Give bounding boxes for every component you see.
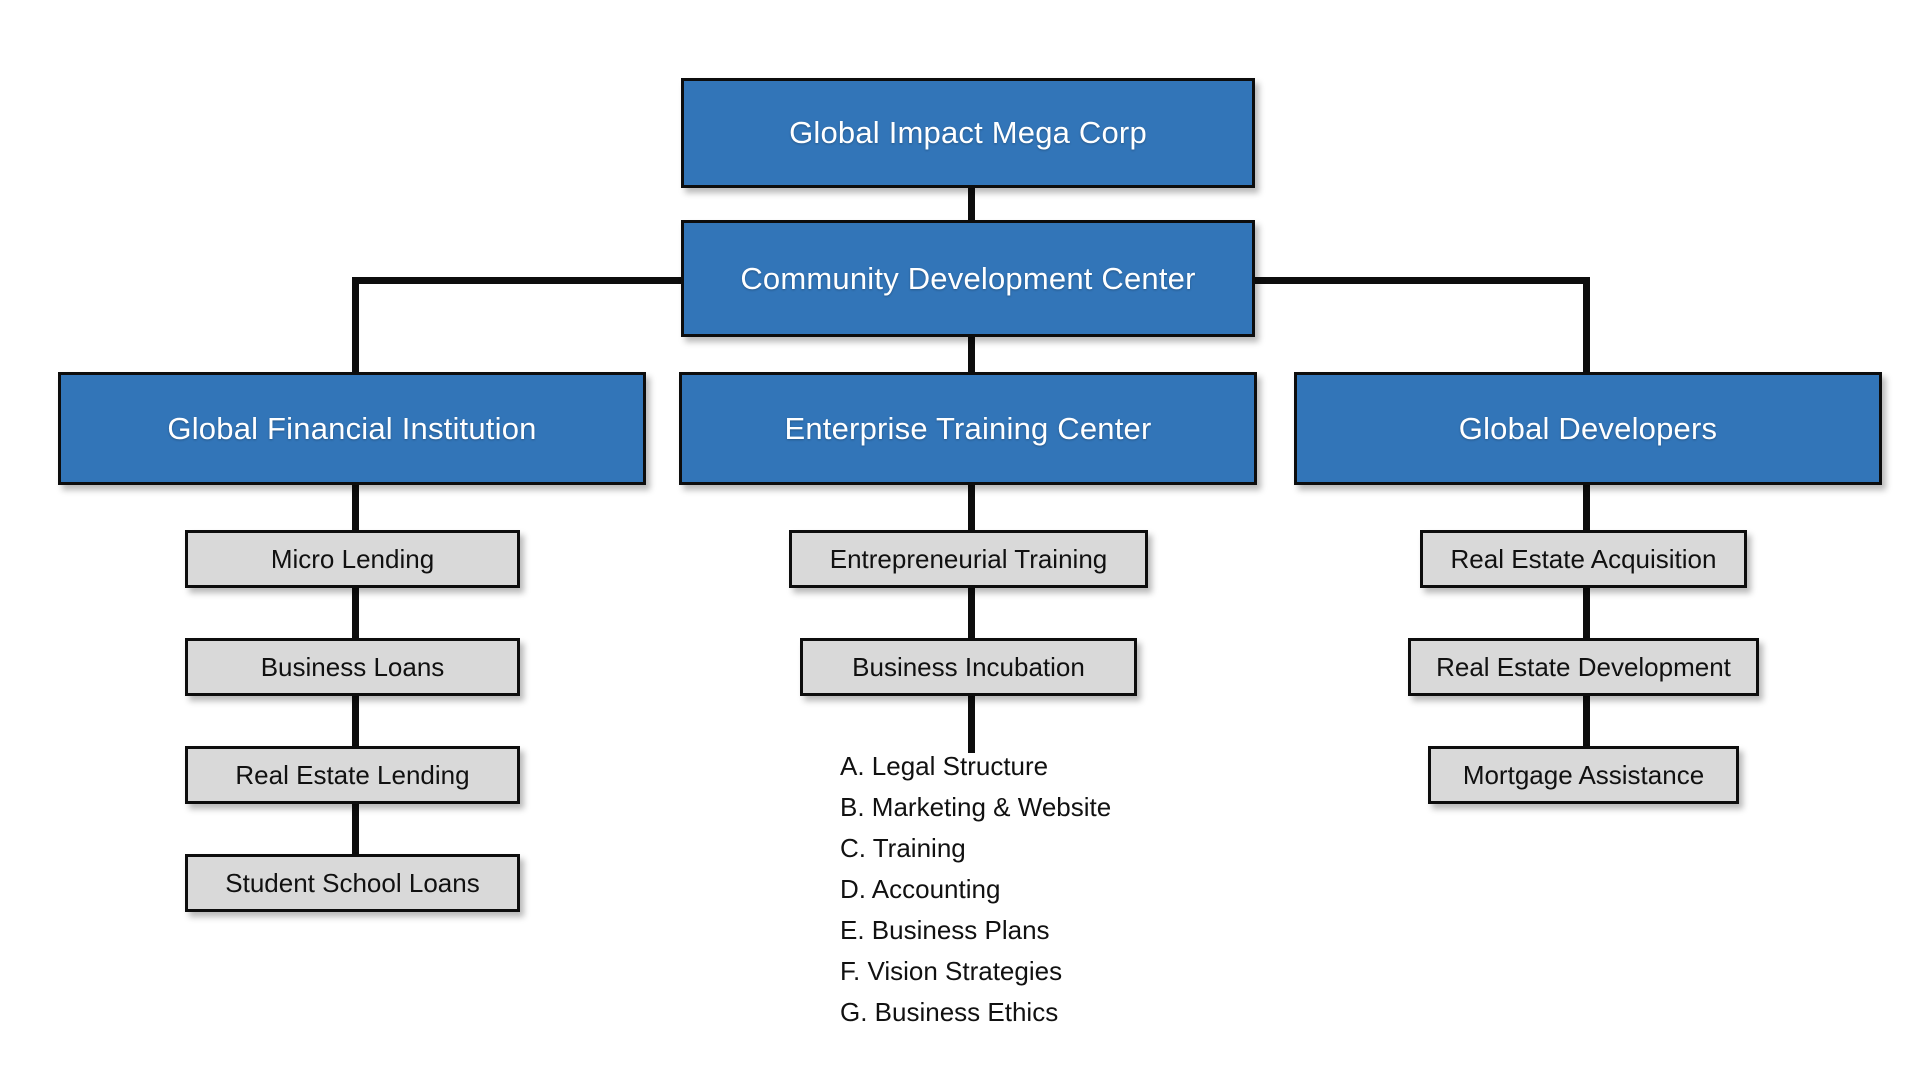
node-root[interactable]: Global Impact Mega Corp (681, 78, 1255, 188)
node-child-label: Real Estate Development (1436, 652, 1731, 683)
node-branch-label: Global Developers (1459, 411, 1717, 447)
node-child-label: Student School Loans (225, 868, 479, 899)
sublist-item-text: Accounting (872, 874, 1001, 904)
sublist-business-incubation-topics: A. Legal Structure B. Marketing & Websit… (840, 746, 1111, 1033)
node-branch-label: Global Financial Institution (167, 411, 536, 447)
node-level2-label: Community Development Center (740, 261, 1195, 297)
sublist-item-text: Business Ethics (875, 997, 1059, 1027)
node-child-label: Entrepreneurial Training (830, 544, 1108, 575)
node-child-label: Mortgage Assistance (1463, 760, 1704, 791)
sublist-item-marker: D. (840, 874, 872, 904)
connector-bus-to-branch-left (352, 277, 359, 377)
node-child-mortgage-assistance[interactable]: Mortgage Assistance (1428, 746, 1739, 804)
sublist-item: F. Vision Strategies (840, 951, 1111, 992)
node-child-real-estate-lending[interactable]: Real Estate Lending (185, 746, 520, 804)
sublist-item-marker: G. (840, 997, 875, 1027)
sublist-item-marker: F. (840, 956, 867, 986)
sublist-item-text: Business Plans (872, 915, 1050, 945)
node-child-label: Real Estate Acquisition (1451, 544, 1717, 575)
connector-root-to-level2 (968, 185, 975, 220)
node-branch-label: Enterprise Training Center (784, 411, 1151, 447)
node-child-real-estate-acquisition[interactable]: Real Estate Acquisition (1420, 530, 1747, 588)
node-child-label: Micro Lending (271, 544, 434, 575)
sublist-item-text: Training (873, 833, 966, 863)
node-child-student-school-loans[interactable]: Student School Loans (185, 854, 520, 912)
sublist-item: B. Marketing & Website (840, 787, 1111, 828)
sublist-item: C. Training (840, 828, 1111, 869)
sublist-item: A. Legal Structure (840, 746, 1111, 787)
node-branch-global-financial-institution[interactable]: Global Financial Institution (58, 372, 646, 485)
node-child-label: Real Estate Lending (235, 760, 469, 791)
connector-bus-to-branch-right (1583, 277, 1590, 377)
node-child-business-incubation[interactable]: Business Incubation (800, 638, 1137, 696)
sublist-item-marker: E. (840, 915, 872, 945)
sublist-item: E. Business Plans (840, 910, 1111, 951)
sublist-item-marker: A. (840, 751, 872, 781)
sublist-item-marker: C. (840, 833, 873, 863)
sublist-item-text: Legal Structure (872, 751, 1048, 781)
node-branch-enterprise-training-center[interactable]: Enterprise Training Center (679, 372, 1257, 485)
node-child-micro-lending[interactable]: Micro Lending (185, 530, 520, 588)
sublist-item: G. Business Ethics (840, 992, 1111, 1033)
node-community-development-center[interactable]: Community Development Center (681, 220, 1255, 337)
sublist-item-text: Marketing & Website (872, 792, 1111, 822)
node-branch-global-developers[interactable]: Global Developers (1294, 372, 1882, 485)
sublist-item: D. Accounting (840, 869, 1111, 910)
node-child-business-loans[interactable]: Business Loans (185, 638, 520, 696)
sublist-item-marker: B. (840, 792, 872, 822)
org-chart-canvas: Global Impact Mega Corp Community Develo… (0, 0, 1920, 1080)
connector-level2-to-branch-center (968, 337, 975, 377)
connector-spine-center (968, 483, 975, 753)
node-root-label: Global Impact Mega Corp (789, 115, 1147, 151)
node-child-real-estate-development[interactable]: Real Estate Development (1408, 638, 1759, 696)
node-child-label: Business Incubation (852, 652, 1085, 683)
sublist-item-text: Vision Strategies (867, 956, 1062, 986)
node-child-entrepreneurial-training[interactable]: Entrepreneurial Training (789, 530, 1148, 588)
node-child-label: Business Loans (261, 652, 445, 683)
